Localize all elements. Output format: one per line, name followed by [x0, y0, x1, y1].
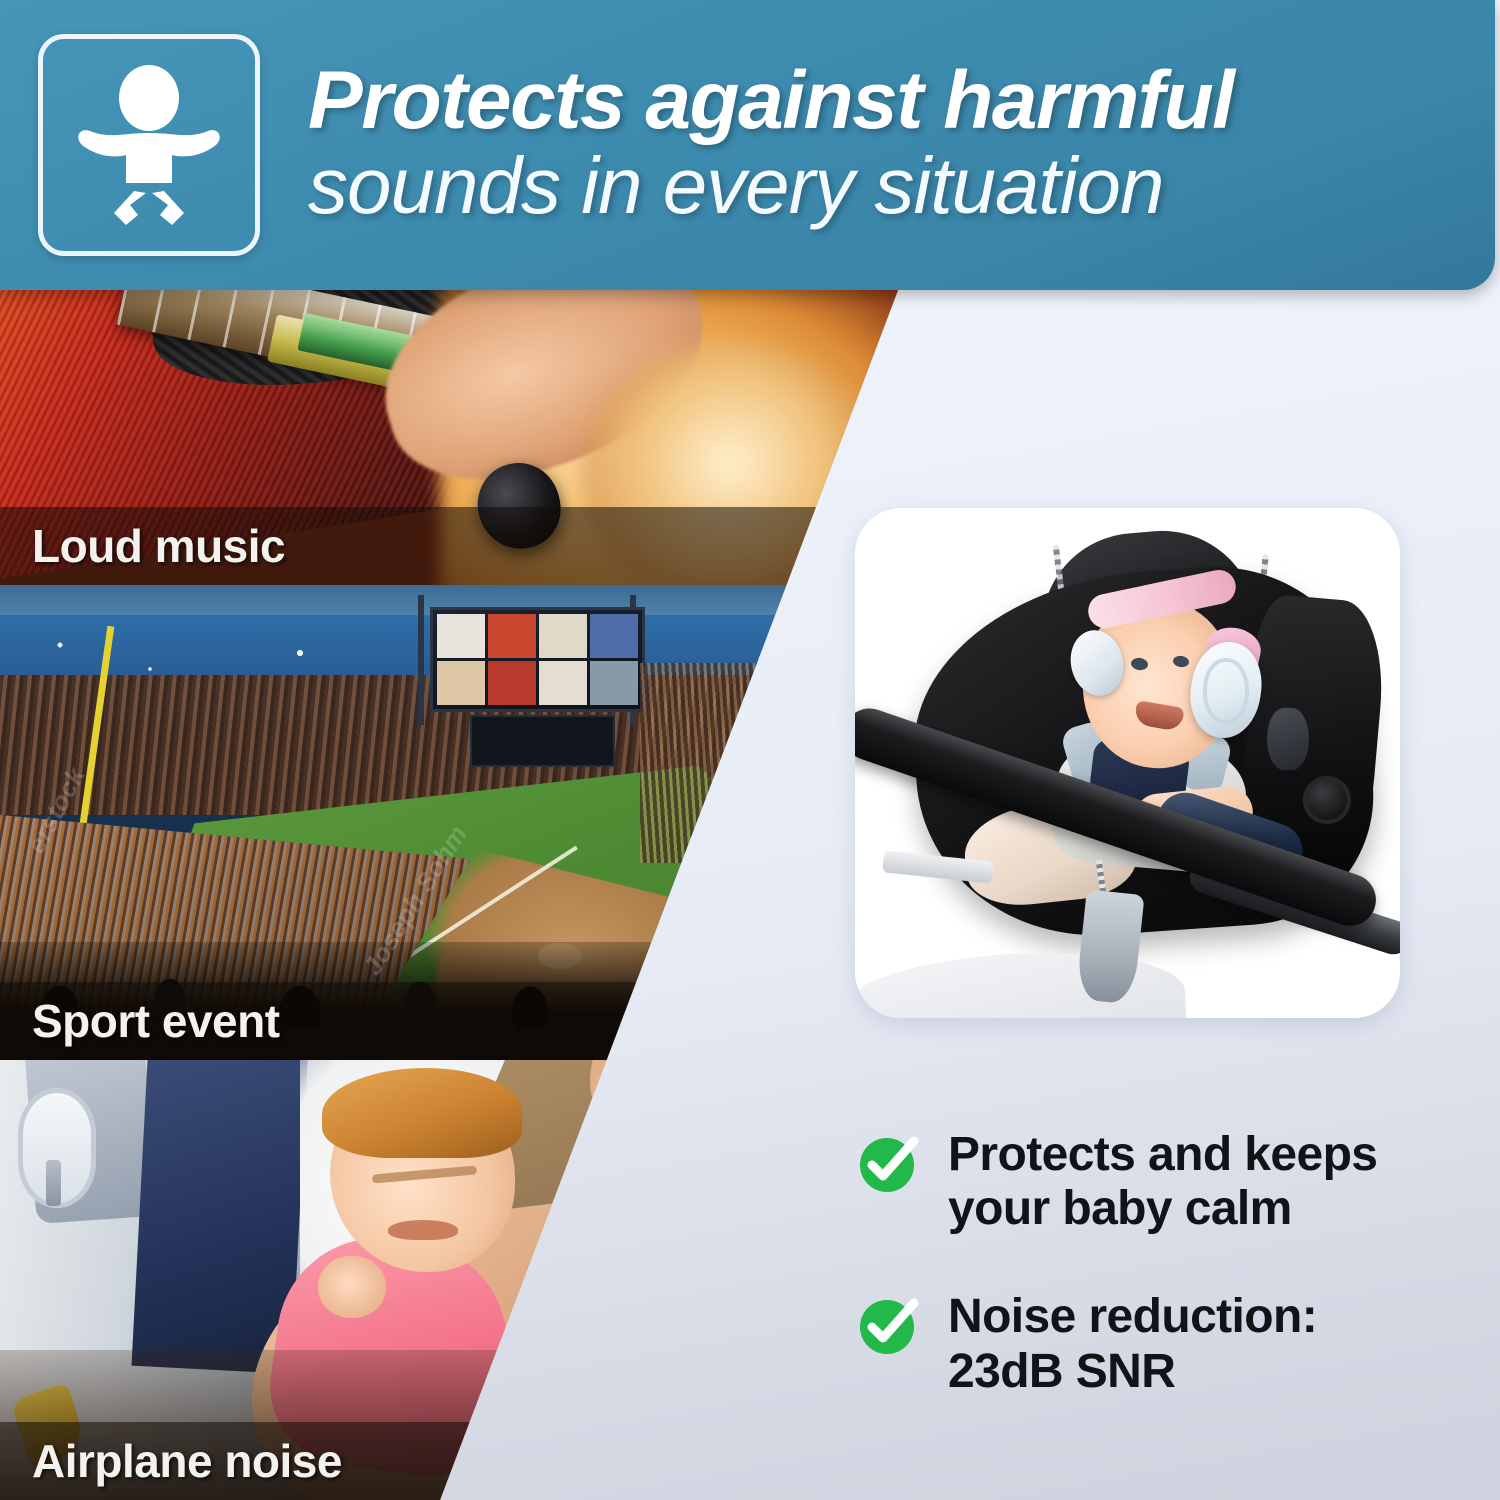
baby-icon-badge	[38, 34, 260, 256]
seat-hub-disc	[1303, 776, 1351, 824]
header-banner: Protects against harmful sounds in every…	[0, 0, 1495, 290]
window-latch	[46, 1160, 61, 1206]
feature-text-line-2: your baby calm	[948, 1182, 1292, 1235]
baby-hand	[318, 1256, 386, 1318]
photo-label-band: Loud music	[0, 507, 900, 585]
feature-list: Protects and keeps your baby calm Noise …	[858, 1128, 1458, 1453]
baby-hair	[322, 1068, 522, 1158]
product-infographic: Loud music er	[0, 0, 1500, 1500]
photo-label-airplane-noise: Airplane noise	[0, 1434, 342, 1488]
feature-text-line-1: Protects and keeps	[948, 1128, 1377, 1181]
scoreboard-screen	[470, 715, 615, 767]
seat-belt-slot	[1267, 708, 1309, 770]
scoreboard	[430, 607, 645, 712]
feature-item: Protects and keeps your baby calm	[858, 1128, 1458, 1236]
ear-muff-right-ring	[1203, 658, 1249, 724]
feature-text: Noise reduction: 23dB SNR	[948, 1290, 1317, 1398]
light-tower-left	[418, 595, 424, 725]
feature-item: Noise reduction: 23dB SNR	[858, 1290, 1458, 1398]
check-circle-icon	[858, 1132, 920, 1194]
headline-line-1: Protects against harmful	[308, 60, 1233, 141]
baby-mouth	[388, 1220, 458, 1240]
photo-label-loud-music: Loud music	[0, 519, 285, 573]
baby-icon	[74, 65, 224, 225]
photo-loud-music: Loud music	[0, 285, 900, 585]
feature-text-line-1: Noise reduction:	[948, 1290, 1317, 1343]
headline: Protects against harmful sounds in every…	[308, 60, 1243, 231]
check-circle-icon	[858, 1294, 920, 1356]
headline-line-2: sounds in every situation	[308, 141, 1233, 231]
product-photo-card	[855, 508, 1400, 1018]
feature-text: Protects and keeps your baby calm	[948, 1128, 1377, 1236]
feature-text-line-2: 23dB SNR	[948, 1345, 1175, 1398]
photo-label-sport-event: Sport event	[0, 994, 280, 1048]
